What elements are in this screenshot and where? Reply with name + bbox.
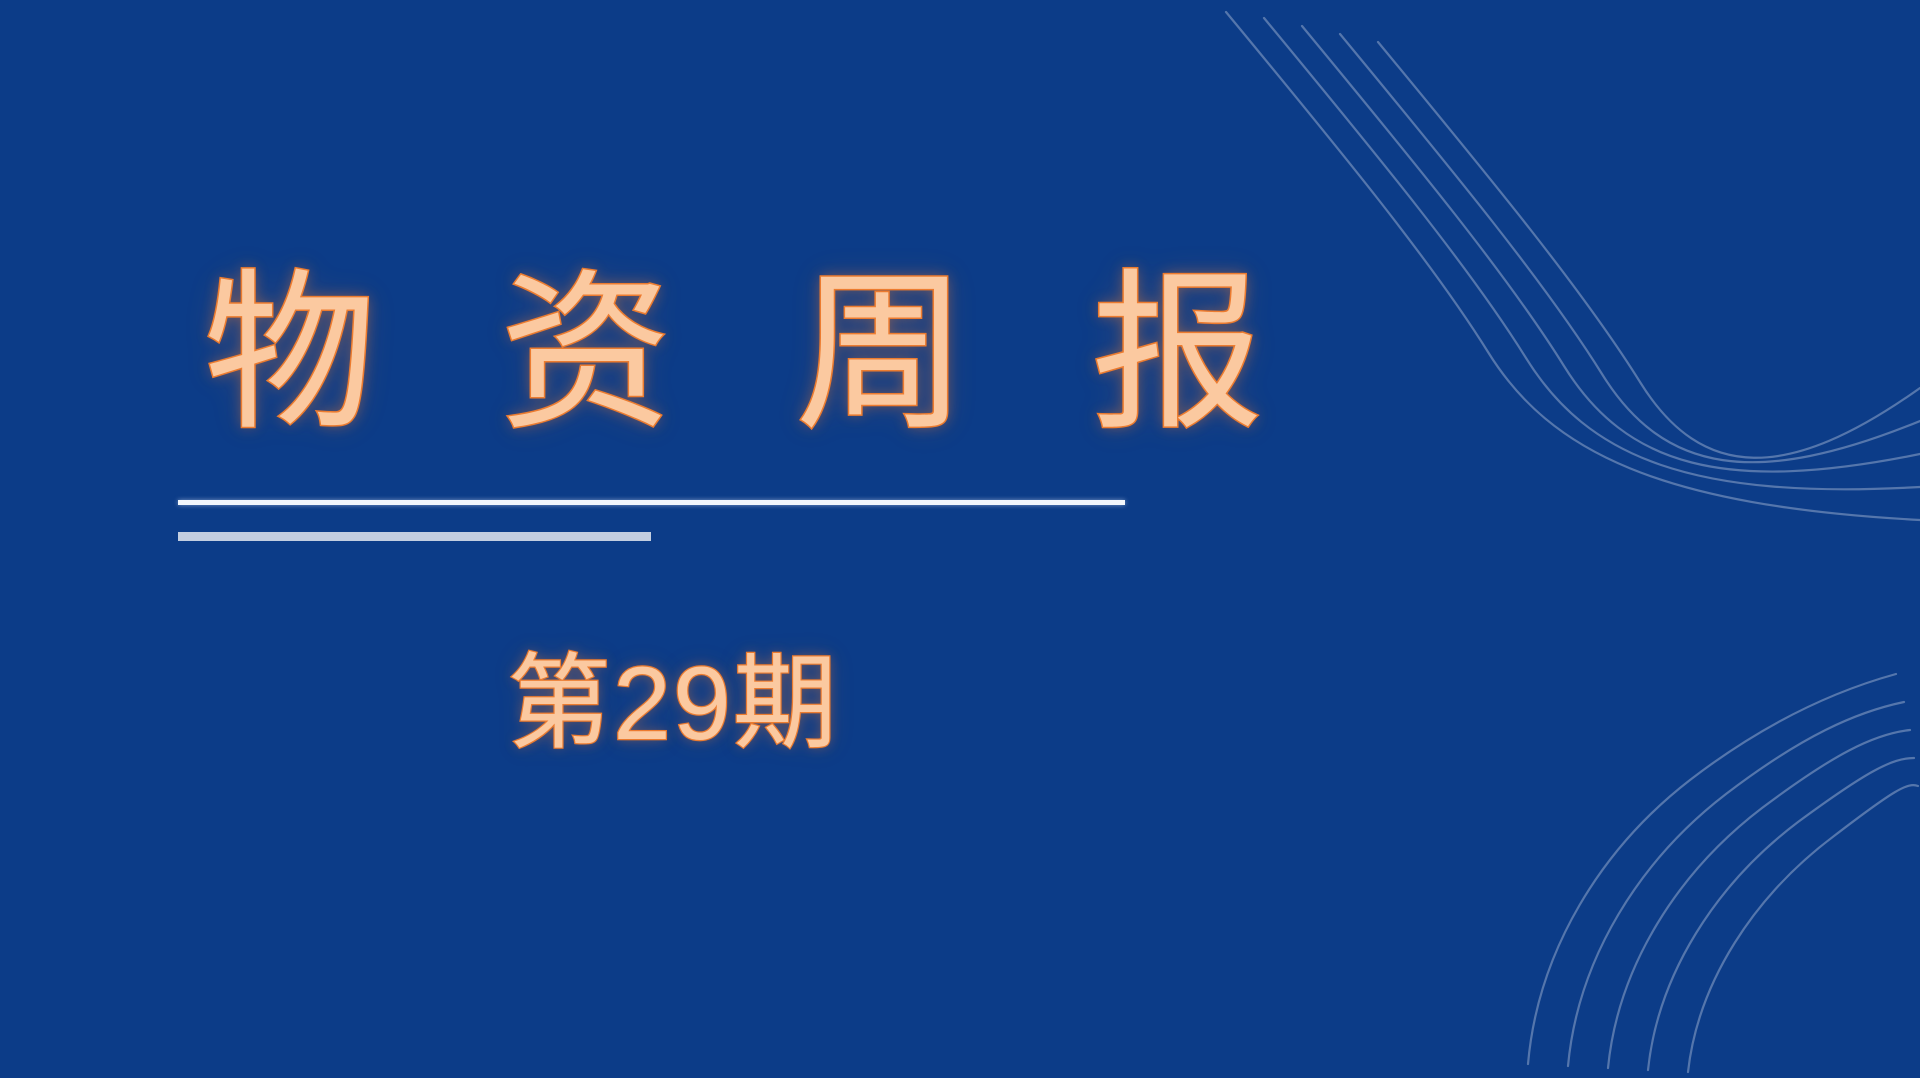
bottom-right-wave-decoration	[1220, 598, 1920, 1078]
wave-line	[1608, 730, 1910, 1068]
wave-line	[1264, 18, 1920, 489]
title-divider-primary	[178, 500, 1125, 505]
wave-line	[1226, 12, 1920, 520]
title-divider-secondary	[178, 532, 651, 541]
wave-line	[1648, 758, 1914, 1070]
wave-line	[1528, 674, 1896, 1064]
issue-subtitle: 第29期	[178, 645, 1168, 765]
page-title: 物 资 周 报	[178, 258, 1178, 451]
wave-line	[1688, 785, 1918, 1072]
bottom-right-wave-svg	[1220, 598, 1920, 1078]
cover-slide: 物 资 周 报 第29期	[0, 0, 1920, 1078]
wave-line	[1340, 34, 1920, 462]
top-right-wave-decoration	[1220, 0, 1920, 540]
wave-line	[1378, 42, 1920, 458]
wave-line	[1568, 702, 1904, 1066]
title-block: 物 资 周 报	[178, 258, 1178, 451]
top-right-wave-svg	[1220, 0, 1920, 540]
wave-line	[1302, 26, 1920, 472]
